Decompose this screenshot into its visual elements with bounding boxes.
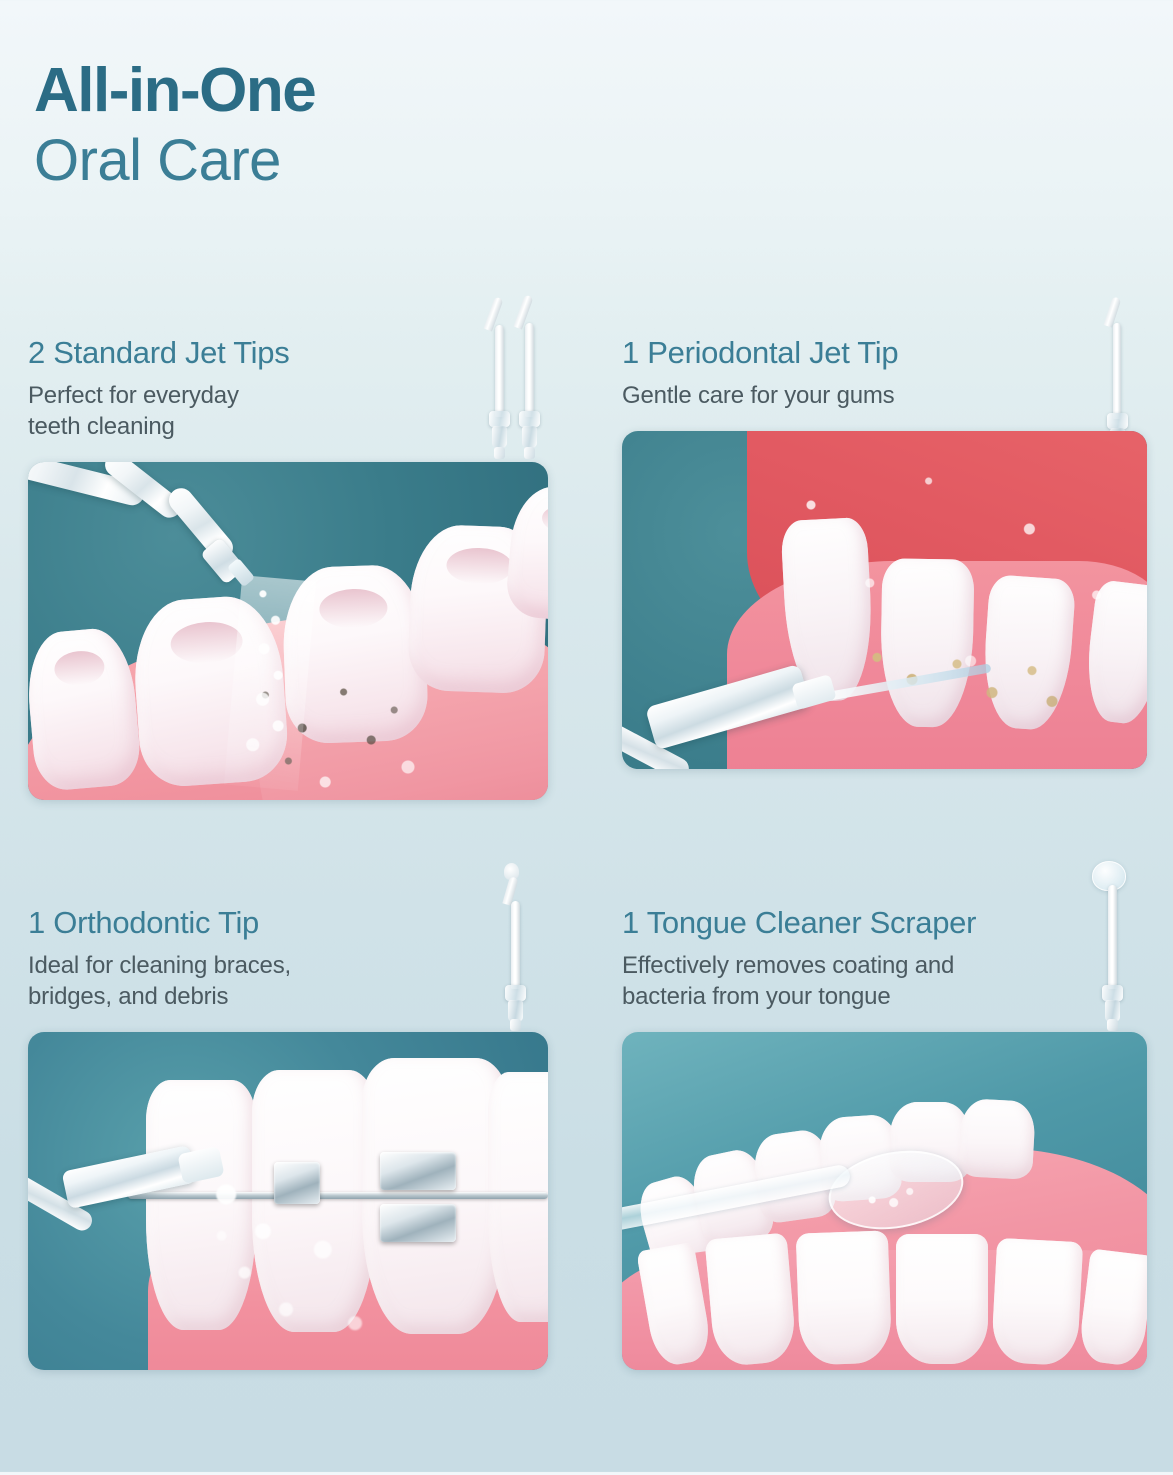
- lower-tooth: [1077, 1249, 1147, 1368]
- page-title: All-in-One: [34, 58, 315, 123]
- lower-tooth: [991, 1238, 1083, 1366]
- feature-card-orthodontic-tip[interactable]: 1 Orthodontic Tip Ideal for cleaning bra…: [28, 905, 575, 1370]
- feature-photo-standard-jet-tips: [28, 462, 548, 800]
- water-splash: [194, 1130, 424, 1360]
- lower-tooth: [796, 1231, 893, 1366]
- page-subtitle: Oral Care: [34, 129, 315, 194]
- feature-photo-tongue-cleaner-scraper: [622, 1032, 1147, 1370]
- upper-tooth: [958, 1098, 1036, 1180]
- feature-card-periodontal-jet-tip[interactable]: 1 Periodontal Jet Tip Gentle care for yo…: [622, 335, 1169, 769]
- feature-card-tongue-cleaner-scraper[interactable]: 1 Tongue Cleaner Scraper Effectively rem…: [622, 905, 1169, 1370]
- tongue-cleaner-scraper-icon: [1064, 861, 1154, 1041]
- feature-card-standard-jet-tips[interactable]: 2 Standard Jet Tips Perfect for everyday…: [28, 335, 575, 800]
- orthodontic-tip-icon: [468, 863, 558, 1038]
- lower-tooth: [705, 1233, 798, 1368]
- feature-photo-periodontal-jet-tip: [622, 431, 1147, 769]
- lower-tooth: [896, 1234, 988, 1364]
- feature-row-bottom: 1 Orthodontic Tip Ideal for cleaning bra…: [0, 905, 1173, 1475]
- feature-row-top: 2 Standard Jet Tips Perfect for everyday…: [0, 335, 1173, 905]
- feature-photo-orthodontic-tip: [28, 1032, 548, 1370]
- hero-heading: All-in-One Oral Care: [34, 58, 315, 194]
- standard-jet-tip-pair-icon: [458, 295, 568, 470]
- feature-grid: 2 Standard Jet Tips Perfect for everyday…: [0, 335, 1173, 1475]
